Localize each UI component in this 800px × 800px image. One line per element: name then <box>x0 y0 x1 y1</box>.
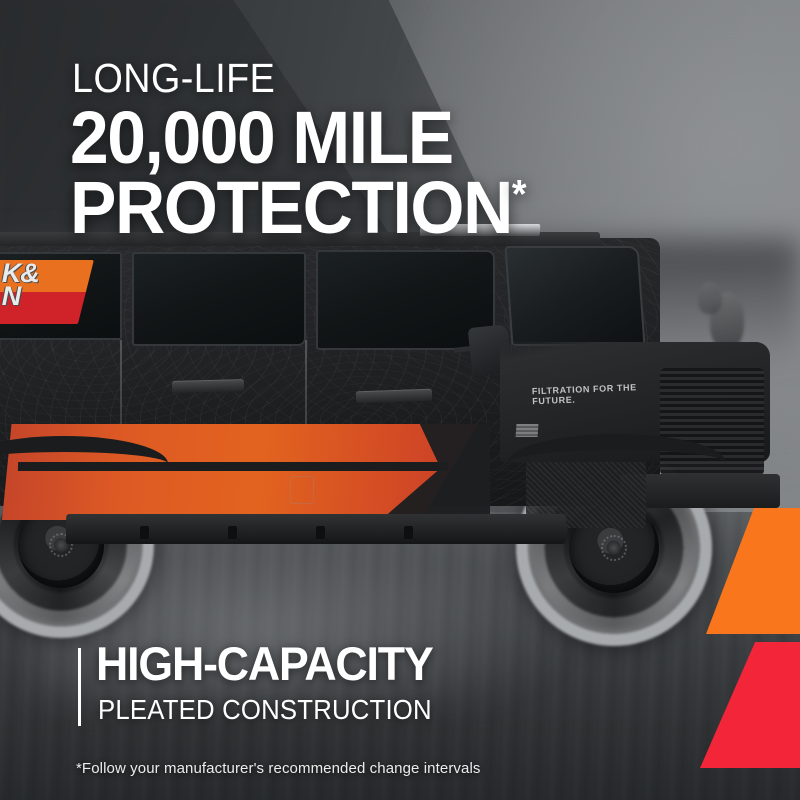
headline-line-2: PROTECTION* <box>70 173 651 243</box>
headline-block: LONG-LIFE 20,000 MILE PROTECTION* <box>68 58 688 242</box>
rear-door-handle <box>172 379 244 393</box>
front-door-handle <box>356 389 432 404</box>
headline-line-2-text: PROTECTION <box>70 166 512 249</box>
subhead-vertical-rule <box>78 648 81 726</box>
vehicle-photo-subject: K&N FILTRATION FOR THE FUTURE. <box>0 238 790 638</box>
slider-bolt <box>228 526 237 539</box>
slider-bolt <box>316 526 325 539</box>
kn-logo-text: K&N <box>2 262 39 308</box>
advertisement-canvas: K&N FILTRATION FOR THE FUTURE. <box>0 0 800 800</box>
kn-door-logo: K&N <box>0 260 94 324</box>
flag-decal <box>516 424 539 437</box>
rear-door-window <box>132 252 306 346</box>
fuel-filler-cap <box>290 476 314 504</box>
rear-passenger-silhouette <box>698 282 722 314</box>
subhead-text-group: HIGH-CAPACITY PLEATED CONSTRUCTION <box>96 640 630 724</box>
slider-bolt <box>140 526 149 539</box>
front-fender-flare <box>508 434 726 492</box>
headline-line-1: 20,000 MILE <box>70 103 651 173</box>
windshield <box>505 246 646 346</box>
footnote-disclaimer: *Follow your manufacturer's recommended … <box>76 760 480 777</box>
subhead-block: HIGH-CAPACITY PLEATED CONSTRUCTION <box>70 640 630 724</box>
headline-asterisk: * <box>512 172 525 216</box>
subhead-title: HIGH-CAPACITY <box>96 640 603 687</box>
headline-eyebrow: LONG-LIFE <box>72 58 639 99</box>
slider-bolt <box>404 526 413 539</box>
subhead-subtitle: PLEATED CONSTRUCTION <box>98 696 587 724</box>
